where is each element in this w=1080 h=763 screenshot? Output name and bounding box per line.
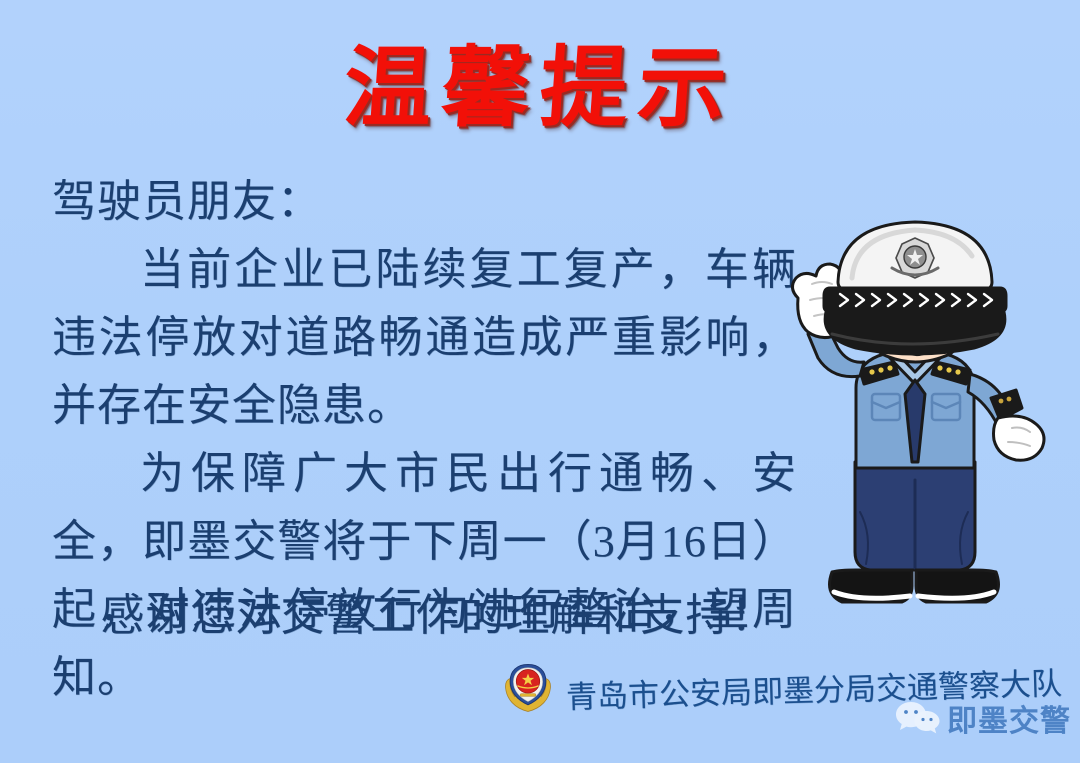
police-emblem-icon — [500, 660, 556, 721]
salutation-line: 驾驶员朋友： — [52, 168, 797, 236]
notice-poster: 温馨提示 驾驶员朋友： 当前企业已陆续复工复产，车辆违法停放对道路畅通造成严重影… — [0, 0, 1080, 763]
saluting-traffic-police-cartoon — [760, 212, 1070, 622]
paragraph-1: 当前企业已陆续复工复产，车辆违法停放对道路畅通造成严重影响，并存在安全隐患。 — [52, 236, 797, 440]
poster-title-area: 温馨提示 — [0, 44, 1080, 136]
wechat-watermark: 即墨交警 — [895, 700, 1071, 743]
page-title: 温馨提示 — [341, 44, 739, 136]
wechat-icon — [895, 700, 941, 743]
closing-line: 感谢您对交警工作的理解和支持！ — [52, 586, 797, 646]
wechat-account-name: 即墨交警 — [947, 707, 1071, 737]
